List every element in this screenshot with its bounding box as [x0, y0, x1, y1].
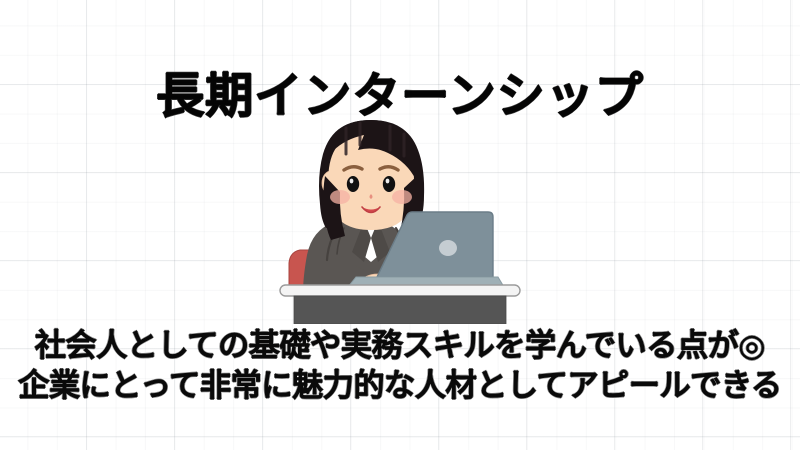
businesswoman-laptop-svg: [272, 102, 528, 324]
caption-line-2: 企業にとって非常に魅力的な人材としてアピールできる: [0, 366, 800, 406]
desk: [280, 285, 520, 324]
businesswoman-laptop-illustration: [272, 102, 528, 324]
slide-canvas: 長期インターンシップ: [0, 0, 800, 450]
caption-block: 社会人としての基礎や実務スキルを学んでいる点が◎ 企業にとって非常に魅力的な人材…: [0, 326, 800, 406]
caption-line-1: 社会人としての基礎や実務スキルを学んでいる点が◎: [0, 326, 800, 366]
